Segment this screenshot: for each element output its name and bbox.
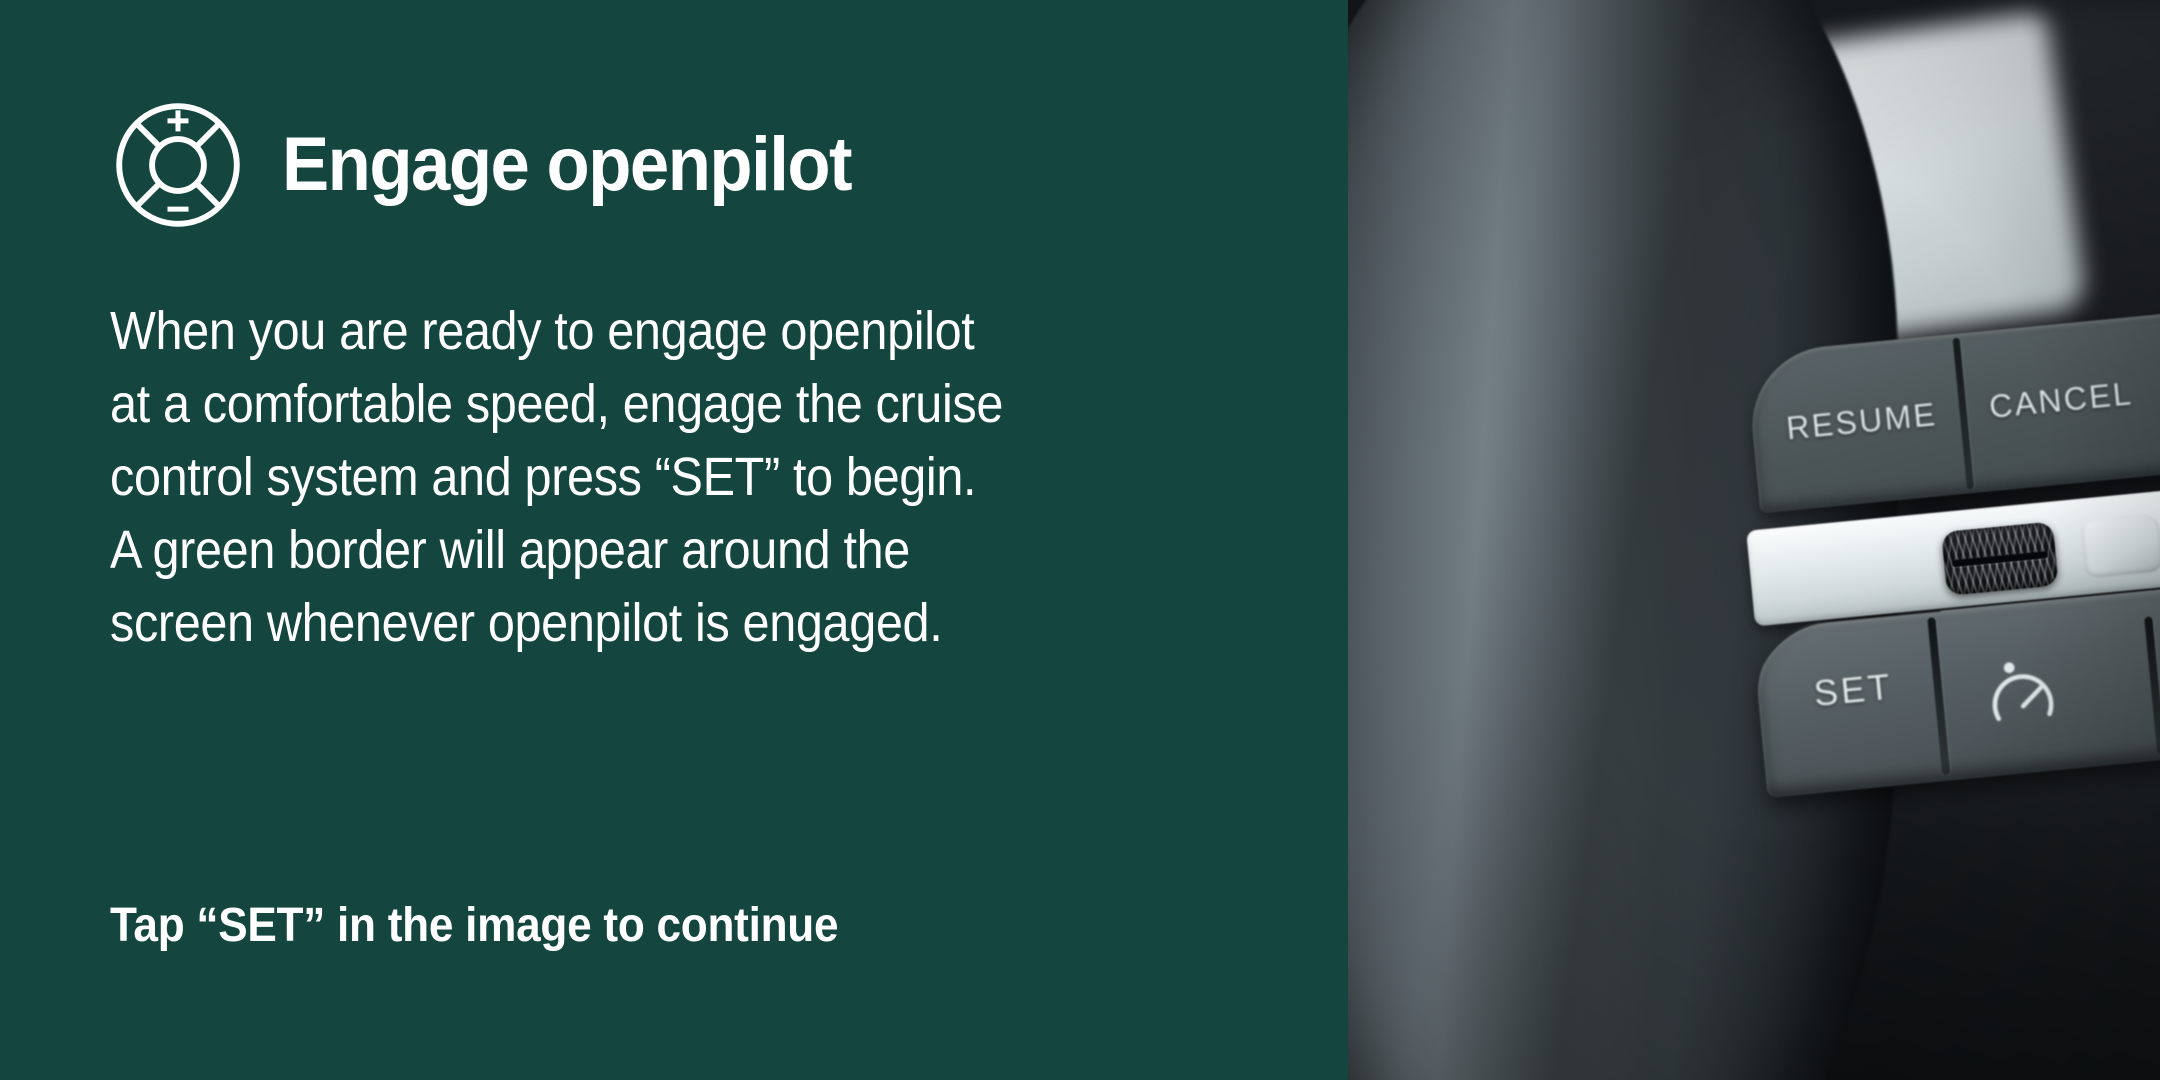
panel-header: Engage openpilot (108, 95, 894, 235)
instruction-panel: Engage openpilot When you are ready to e… (0, 0, 1348, 1080)
cancel-button-label[interactable]: CANCEL (1988, 375, 2135, 426)
page-title: Engage openpilot (282, 127, 851, 203)
onboarding-screen: Engage openpilot When you are ready to e… (0, 0, 2160, 1080)
scroll-wheel-slot (1952, 551, 2048, 567)
continue-instruction: Tap “SET” in the image to continue (110, 900, 838, 953)
body-line: A green border will appear around the (110, 514, 1181, 587)
body-line: control system and press “SET” to begin. (110, 441, 1181, 514)
body-line: at a comfortable speed, engage the cruis… (110, 368, 1181, 441)
instruction-body: When you are ready to engage openpilot a… (110, 295, 1300, 660)
thumb-scroll-wheel[interactable] (1941, 521, 2059, 595)
cruise-button-cluster: RESUME CANCEL SET (1745, 308, 2160, 852)
body-line: screen whenever openpilot is engaged. (110, 587, 1181, 660)
body-line: When you are ready to engage openpilot (110, 295, 1181, 368)
set-button-tap-target[interactable] (1800, 620, 2000, 760)
button-divider-3 (2144, 616, 2160, 754)
cruise-control-icon (108, 95, 248, 235)
steering-wheel-photo[interactable]: RESUME CANCEL SET (1348, 0, 2160, 1080)
chrome-trim-tab (2081, 513, 2160, 578)
